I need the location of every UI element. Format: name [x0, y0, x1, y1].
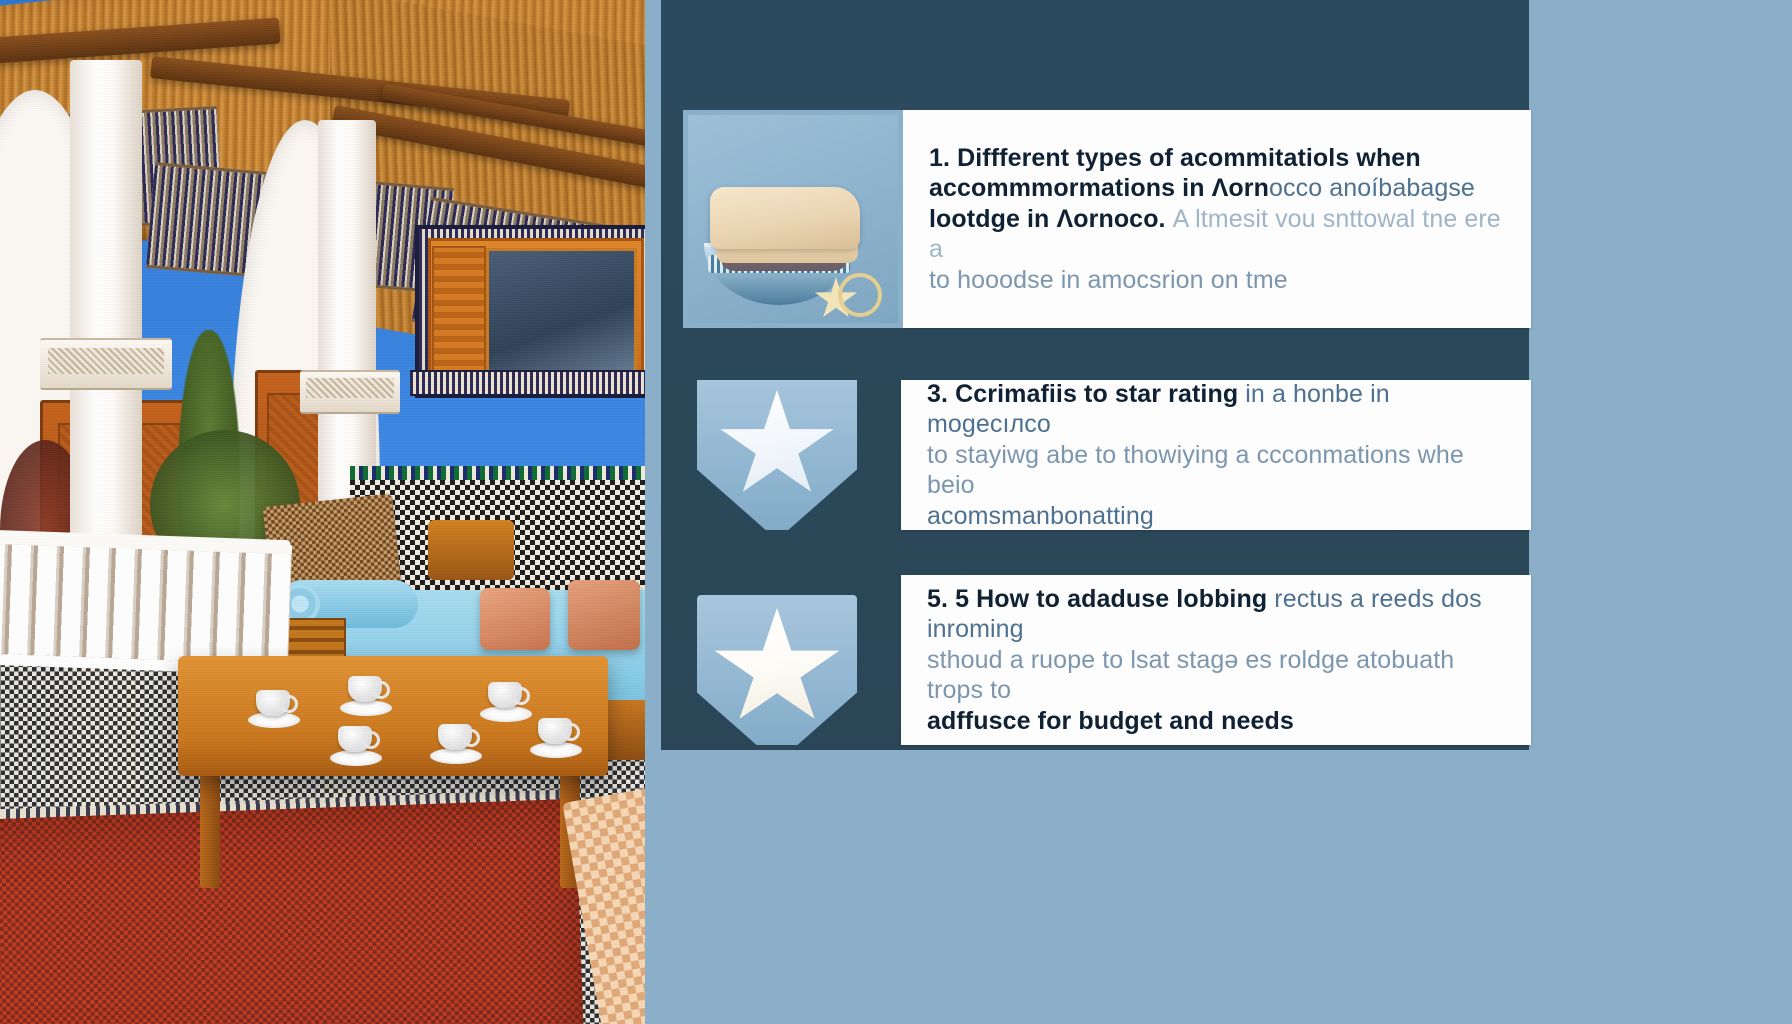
card-3-line-3: adffusce for budget and needs [927, 706, 1503, 737]
card-2-line-1: 3. Ccrimafiis to star rating in a honbe … [927, 379, 1503, 440]
card-1-line-4-seg-1: to hooodse in amocsrion on tme [929, 266, 1288, 294]
saucer [430, 748, 482, 764]
card-2-body: 3. Ccrimafiis to star rating in a honbe … [901, 380, 1531, 530]
card-3-line-1-seg-1: 5. 5 How to adaduse lobbing [927, 585, 1274, 613]
cream-towel-upper [710, 187, 860, 249]
card-2-line-1-seg-1: 3. Ccrimafiis to star rating [927, 380, 1245, 408]
star-icon [712, 608, 842, 730]
screenshot-root: 1. Diffferent types of acommitatiols whe… [0, 0, 1792, 1024]
shield-icon [697, 595, 857, 745]
card-1-line-2-seg-1: accommmormations in [929, 174, 1212, 202]
card-3-line-2-seg-1: sthoud a ruope to lsat stagə es roldge a… [927, 646, 1454, 705]
card-1-text: 1. Diffferent types of acommitatiols whe… [929, 143, 1503, 296]
card-3-line-3-seg-1: adffusce for budget and needs [927, 707, 1294, 735]
capital-pattern [48, 348, 164, 374]
tea-cup [348, 676, 382, 702]
capital-pattern [306, 378, 394, 398]
wooden-tea-table [178, 656, 608, 776]
card-1-line-4: to hooodse in amocsrion on tme [929, 265, 1503, 296]
card-1-line-1: 1. Diffferent types of acommitatiols whe… [929, 143, 1503, 174]
card-2-line-3: acomsmanbonatting [927, 501, 1503, 532]
card-1-line-1-seg-1: 1. Diffferent types of acommitatiols whe… [929, 144, 1421, 172]
window-sill-tiles [410, 370, 645, 396]
terrace-balustrade [0, 535, 292, 675]
card-list: 1. Diffferent types of acommitatiols whe… [653, 0, 1792, 1024]
card-1-line-2-seg-2: Λorn [1212, 174, 1269, 202]
ring-ornament-icon [838, 273, 882, 317]
terracotta-cushion [568, 580, 640, 650]
card-1-line-3: lootdge in Λornoco. A ltmesit vou snttow… [929, 204, 1503, 265]
card-1-line-2-seg-3: occo anoíbabagse [1269, 174, 1475, 202]
info-card-2[interactable]: 3. Ccrimafiis to star rating in a honbe … [683, 380, 1531, 530]
info-card-1[interactable]: 1. Diffferent types of acommitatiols whe… [683, 110, 1531, 328]
info-panel: 1. Diffferent types of acommitatiols whe… [645, 0, 1792, 1024]
card-1-body: 1. Diffferent types of acommitatiols whe… [903, 110, 1531, 328]
saucer [480, 706, 532, 722]
table-leg [200, 768, 220, 888]
saucer [340, 700, 392, 716]
card-3-body: 5. 5 How to adaduse lobbing rectus a ree… [901, 575, 1531, 745]
card-1-line-2: accommmormations in Λornocco anoíbabagse [929, 173, 1503, 204]
saucer [530, 742, 582, 758]
shield-wrap-3 [697, 595, 857, 745]
tea-cup [256, 690, 290, 716]
terracotta-cushion [480, 588, 550, 650]
info-card-3[interactable]: 5. 5 How to adaduse lobbing rectus a ree… [683, 575, 1531, 745]
window-pane [486, 248, 637, 374]
shield-star-badge-3 [683, 575, 873, 745]
panel-background: 1. Diffferent types of acommitatiols whe… [653, 0, 1792, 1024]
star-icon [718, 390, 836, 502]
card-1-line-3-seg-1: lootdge in Λornoco. [929, 205, 1173, 233]
card-2-line-2-seg-1: to stayiwg abe to thowiying a ccconmatio… [927, 441, 1464, 500]
card-2-line-2: to stayiwg abe to thowiying a ccconmatio… [927, 440, 1503, 501]
saucer [330, 750, 382, 766]
card-3-line-1: 5. 5 How to adaduse lobbing rectus a ree… [927, 584, 1503, 645]
card-2-line-3-seg-1: acomsmanbonatting [927, 502, 1154, 530]
side-table [428, 520, 514, 580]
window-shutter [432, 246, 486, 374]
tea-cup [438, 724, 472, 750]
folded-towels-thumbnail [683, 110, 903, 328]
shield-star-badge-2 [683, 380, 873, 530]
shield-wrap-2 [697, 380, 857, 530]
tea-cup [338, 726, 372, 752]
card-3-line-2: sthoud a ruope to lsat stagə es roldge a… [927, 645, 1503, 706]
red-berber-rug [0, 799, 584, 1024]
shield-icon [697, 380, 857, 530]
tea-cup [488, 682, 522, 708]
card-3-text: 5. 5 How to adaduse lobbing rectus a ree… [927, 584, 1503, 737]
riad-terrace-photo [0, 0, 645, 1024]
card-2-text: 3. Ccrimafiis to star rating in a honbe … [927, 379, 1503, 532]
tea-cup [538, 718, 572, 744]
